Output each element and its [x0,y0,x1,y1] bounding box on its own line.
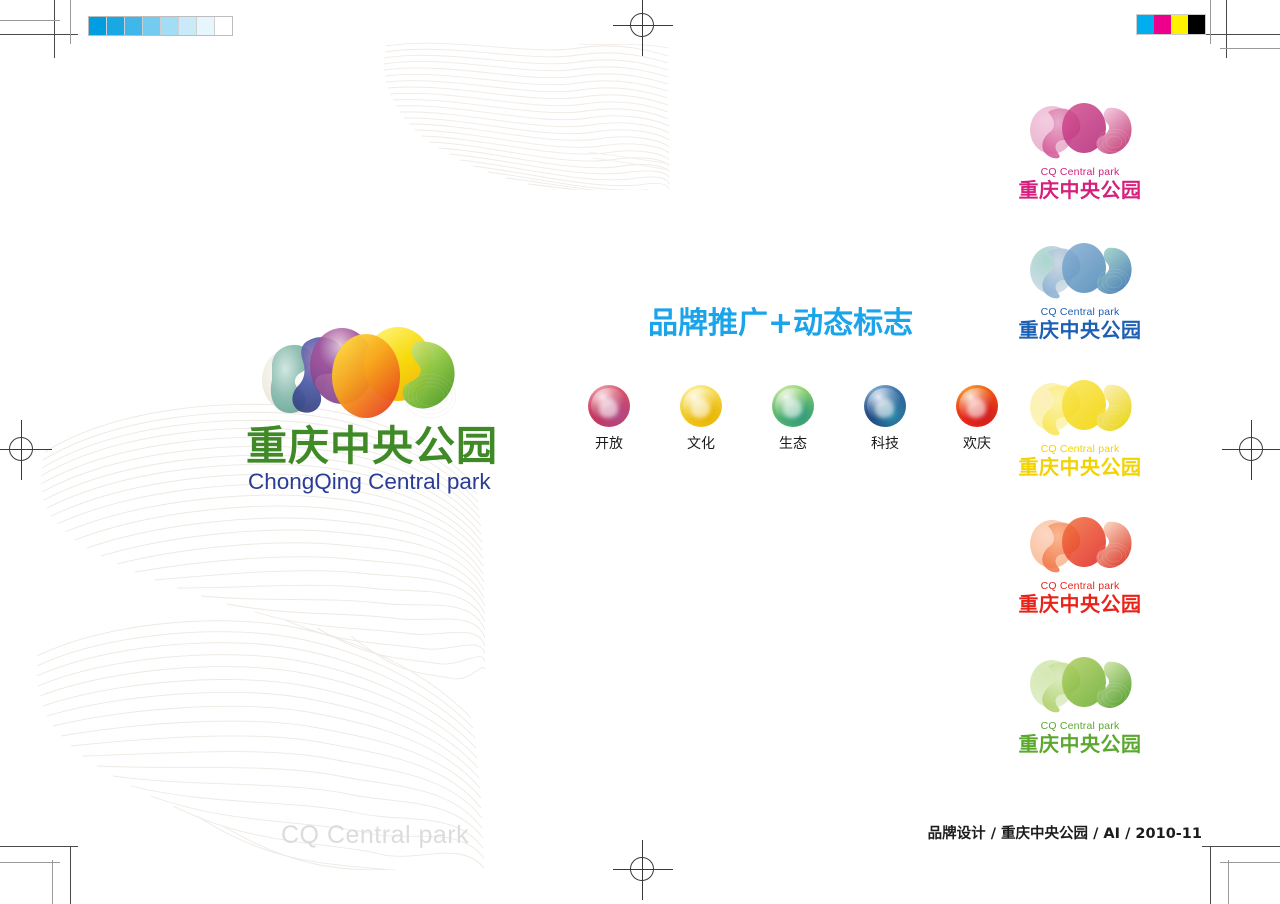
crop-mark-tr-v2 [1210,0,1211,44]
crop-mark-br-h [1202,846,1280,847]
registration-mark-top [613,0,673,56]
artboard: 重庆中央公园 ChongQing Central park 品牌推广+动态标志 … [0,0,1280,904]
orb-label: 开放 [595,436,623,452]
cmyk-swatch-black [1188,15,1205,34]
variant-chinese-name: 重庆中央公园 [1000,319,1160,342]
crop-mark-br-h2 [1220,862,1280,863]
variant-chinese-name: 重庆中央公园 [1000,733,1160,756]
variant-green-mark-icon [1026,652,1134,714]
crop-mark-tr-h2 [1220,48,1280,49]
variant-yellow: CQ Central park重庆中央公园 [1000,375,1160,479]
orb-label: 科技 [871,436,899,452]
footer-credit: 品牌设计 / 重庆中央公园 / AI / 2010-11 [928,825,1202,843]
watermark-text: CQ Central park [281,820,469,850]
variant-yellow-mark-icon [1026,375,1134,437]
cyan-swatch-0 [89,17,107,35]
orb-label: 文化 [687,436,715,452]
cyan-tint-swatches [88,16,233,36]
orb-culture: 文化 [677,385,725,452]
orb-sheen [775,388,810,423]
variant-blue: CQ Central park重庆中央公园 [1000,238,1160,342]
cyan-swatch-5 [179,17,197,35]
variant-english-name: CQ Central park [1000,720,1160,732]
orb-label: 欢庆 [963,436,991,452]
crop-mark-br-v [1210,846,1211,904]
crop-mark-bl-v [70,846,71,904]
variant-english-name: CQ Central park [1000,443,1160,455]
orb-celebration: 欢庆 [953,385,1001,452]
main-logo-chinese-name: 重庆中央公园 [246,423,478,469]
crop-mark-bl-v2 [52,860,53,904]
crop-mark-br-v2 [1228,860,1229,904]
page-title: 品牌推广+动态标志 [648,307,913,341]
cyan-swatch-4 [161,17,179,35]
crop-mark-tl-h2 [0,20,60,21]
cyan-swatch-1 [107,17,125,35]
orb-openness-icon [588,385,630,427]
variant-chinese-name: 重庆中央公园 [1000,593,1160,616]
cmyk-swatch-yellow [1171,15,1188,34]
cmyk-swatches [1136,14,1206,35]
variant-pink-mark-icon [1026,98,1134,160]
registration-mark-left [0,420,52,480]
registration-mark-bottom [613,840,673,900]
main-logo-mark-icon [258,318,458,423]
crop-mark-bl-h [0,846,78,847]
variant-red: CQ Central park重庆中央公园 [1000,512,1160,616]
crop-mark-tl-h [0,34,78,35]
cmyk-swatch-cyan [1137,15,1154,34]
crop-mark-bl-h2 [0,862,60,863]
orb-ecology-icon [772,385,814,427]
orb-sheen [867,388,902,423]
orb-technology-icon [864,385,906,427]
registration-mark-right [1222,420,1280,480]
orb-ecology: 生态 [769,385,817,452]
variant-chinese-name: 重庆中央公园 [1000,456,1160,479]
variant-blue-mark-icon [1026,238,1134,300]
crop-mark-tr-h [1202,34,1280,35]
cyan-swatch-2 [125,17,143,35]
main-logo-english-name: ChongQing Central park [248,470,480,494]
cyan-swatch-7 [215,17,232,35]
variant-pink: CQ Central park重庆中央公园 [1000,98,1160,202]
variant-english-name: CQ Central park [1000,306,1160,318]
orb-celebration-icon [956,385,998,427]
variant-green: CQ Central park重庆中央公园 [1000,652,1160,756]
wave-pattern-top [378,40,670,190]
cyan-swatch-3 [143,17,161,35]
variant-chinese-name: 重庆中央公园 [1000,179,1160,202]
main-logo: 重庆中央公园 ChongQing Central park [246,318,478,488]
variant-red-mark-icon [1026,512,1134,574]
orb-culture-icon [680,385,722,427]
variant-english-name: CQ Central park [1000,166,1160,178]
orb-sheen [591,388,626,423]
cmyk-swatch-magenta [1154,15,1171,34]
crop-mark-tl-v2 [70,0,71,44]
crop-mark-tl-v [54,0,55,58]
orb-sheen [959,388,994,423]
orb-openness: 开放 [585,385,633,452]
brand-attribute-orbs: 开放文化生态科技欢庆 [585,385,1001,452]
orb-technology: 科技 [861,385,909,452]
orb-label: 生态 [779,436,807,452]
orb-sheen [683,388,718,423]
cyan-swatch-6 [197,17,215,35]
variant-english-name: CQ Central park [1000,580,1160,592]
crop-mark-tr-v [1226,0,1227,58]
